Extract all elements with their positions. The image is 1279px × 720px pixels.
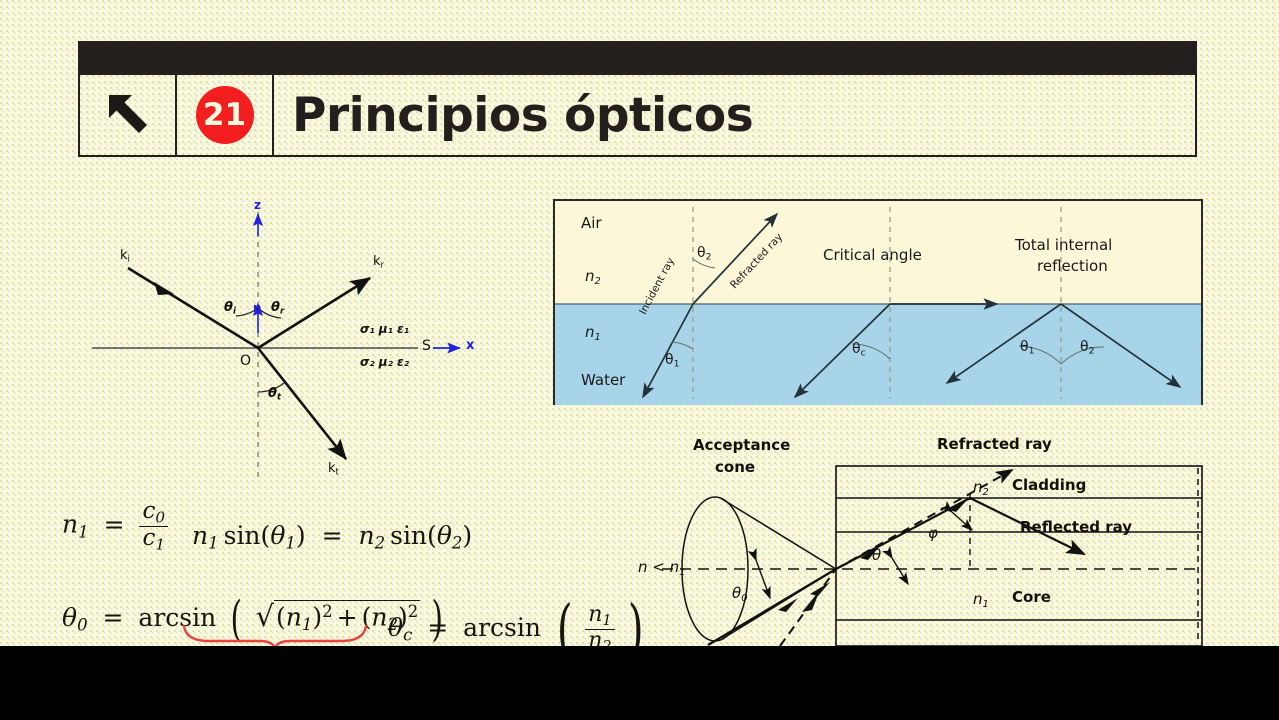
water-label: Water bbox=[581, 371, 625, 389]
aa-theta-sub: 0 bbox=[77, 616, 88, 635]
cladding-n-letter: n bbox=[973, 478, 983, 496]
cladding-label: Cladding bbox=[1012, 476, 1086, 494]
theta-t-label: θt bbox=[268, 386, 281, 402]
theta2-sub: 2 bbox=[706, 252, 712, 263]
aa-equals: = bbox=[103, 603, 124, 632]
k-incident-sub: i bbox=[128, 254, 130, 264]
core-index-label: n1 bbox=[973, 590, 989, 610]
n1-letter: n bbox=[585, 323, 595, 341]
ca-denominator: n2 bbox=[585, 630, 614, 646]
theta2-tir-symbol: θ bbox=[1080, 339, 1089, 355]
refracted-ray-label: Refracted ray bbox=[937, 435, 1052, 453]
k-incident-letter: k bbox=[120, 248, 128, 263]
theta2-tir-sub: 2 bbox=[1089, 346, 1095, 357]
theta2-tir-label: θ2 bbox=[1080, 339, 1094, 357]
snell-theta-right-sub: 2 bbox=[452, 534, 463, 553]
reflected-ray-label: Reflected ray bbox=[1020, 518, 1132, 536]
back-arrow-button[interactable] bbox=[80, 75, 177, 155]
arrow-up-left-icon bbox=[102, 89, 154, 141]
snell-sin-left: sin bbox=[224, 521, 261, 550]
ca-open-paren: ( bbox=[557, 592, 573, 646]
theta-t-symbol: θ bbox=[268, 386, 277, 401]
snell-law-equation: n1sin(θ1) = n2sin(θ2) bbox=[192, 521, 472, 553]
ca-arcsin: arcsin bbox=[463, 613, 541, 642]
theta-label: θ bbox=[872, 546, 881, 564]
cladding-index-label: n2 bbox=[973, 478, 989, 498]
ca-den-var: n bbox=[588, 628, 602, 646]
theta1-sub: 1 bbox=[674, 359, 680, 370]
theta-r-label: θr bbox=[271, 300, 284, 316]
core-n-letter: n bbox=[973, 590, 983, 608]
theta1-tir-symbol: θ bbox=[1020, 339, 1029, 355]
k-reflected-label: kr bbox=[373, 254, 384, 270]
n-lt-n1-text: n < n bbox=[638, 558, 679, 576]
slide-number-text: 21 bbox=[203, 97, 246, 133]
n1-label: n1 bbox=[585, 323, 601, 343]
optical-fiber-acceptance-cone-diagram: Acceptance cone Refracted ray Reflected … bbox=[660, 432, 1205, 646]
slide-canvas: 21 Principios ópticos bbox=[0, 0, 1279, 646]
k-transmitted-sub: t bbox=[336, 467, 339, 477]
aa-theta: θ bbox=[62, 603, 77, 632]
theta-c-symbol: θ bbox=[852, 341, 861, 357]
critical-angle-label: Critical angle bbox=[823, 246, 922, 264]
ca-equals: = bbox=[427, 613, 448, 642]
header-dark-bar bbox=[78, 41, 1197, 73]
ri-num-var: c bbox=[142, 498, 155, 524]
ri-lhs-var: n bbox=[62, 510, 78, 539]
snell-theta-right: θ bbox=[437, 521, 452, 550]
k-transmitted-label: kt bbox=[328, 461, 339, 477]
reflection-refraction-diagram: z x S O n ki kr kt θi θr θt σ₁ μ₁ ε₁ σ₂ … bbox=[88, 196, 498, 496]
slide-number-badge: 21 bbox=[177, 75, 274, 155]
ri-den-sub: 1 bbox=[155, 535, 165, 553]
ca-num-sub: 1 bbox=[602, 613, 611, 629]
ri-den-var: c bbox=[142, 525, 155, 551]
aa-pow1: 2 bbox=[322, 602, 333, 621]
critical-angle-equation: θc = arcsin ( n1 n2 ) bbox=[388, 592, 648, 646]
ca-fraction: n1 n2 bbox=[585, 604, 614, 646]
snell-equals: = bbox=[322, 521, 343, 550]
theta0-sub: 0 bbox=[741, 593, 747, 604]
refractive-index-equation: n1 = c0 c1 bbox=[62, 500, 168, 552]
normal-vector-label: n bbox=[253, 301, 262, 315]
page-title-text: Principios ópticos bbox=[292, 88, 753, 143]
acceptance-cone-label-line1: Acceptance bbox=[693, 436, 790, 454]
cladding-n-sub: 2 bbox=[983, 487, 989, 498]
theta2-refraction-label: θ2 bbox=[697, 245, 711, 263]
theta1-tir-sub: 1 bbox=[1029, 346, 1035, 357]
slide-number-circle: 21 bbox=[196, 86, 254, 144]
bottom-black-bar bbox=[0, 646, 1279, 720]
phi-label: φ bbox=[928, 524, 938, 542]
acceptance-cone-label-line2: cone bbox=[715, 458, 755, 476]
theta-t-sub: t bbox=[277, 392, 281, 402]
medium1-params-label: σ₁ μ₁ ε₁ bbox=[360, 322, 409, 336]
ca-den-sub: 2 bbox=[602, 639, 611, 646]
n-less-than-n1-label: n < n1 bbox=[638, 558, 685, 578]
snell-theta-left-sub: 1 bbox=[285, 534, 296, 553]
theta-r-symbol: θ bbox=[271, 300, 280, 315]
ri-num-sub: 0 bbox=[155, 508, 165, 526]
theta-i-label: θi bbox=[224, 300, 236, 316]
theta1-tir-label: θ1 bbox=[1020, 339, 1034, 357]
ca-close-paren: ) bbox=[627, 592, 643, 646]
snell-sin-right: sin bbox=[390, 521, 427, 550]
theta2-symbol: θ bbox=[697, 245, 706, 261]
theta-r-sub: r bbox=[280, 306, 284, 316]
snell-n1-var: n bbox=[192, 521, 208, 550]
page-title: Principios ópticos bbox=[274, 75, 1195, 155]
ri-numerator: c0 bbox=[139, 500, 168, 527]
fresnel-rays-svg bbox=[88, 196, 498, 496]
core-label: Core bbox=[1012, 588, 1051, 606]
total-internal-reflection-label-line2: reflection bbox=[1037, 257, 1108, 275]
n1-sub: 1 bbox=[595, 332, 601, 343]
ri-denominator: c1 bbox=[139, 527, 168, 553]
x-axis-label: x bbox=[466, 338, 474, 353]
snell-n1-sub: 1 bbox=[208, 534, 219, 553]
ca-theta-sub: c bbox=[403, 626, 412, 645]
snell-theta-left: θ bbox=[270, 521, 285, 550]
n2-sub: 2 bbox=[595, 276, 601, 287]
theta0-symbol: θ bbox=[732, 584, 741, 602]
snell-n2-var: n bbox=[359, 521, 375, 550]
snell-n2-sub: 2 bbox=[375, 534, 386, 553]
k-reflected-sub: r bbox=[381, 260, 385, 270]
n-lt-n1-sub: 1 bbox=[679, 567, 685, 578]
air-label: Air bbox=[581, 214, 602, 232]
aa-n2: n bbox=[371, 603, 387, 632]
n2-letter: n bbox=[585, 267, 595, 285]
theta-c-label: θc bbox=[852, 341, 866, 359]
k-incident-label: ki bbox=[120, 248, 130, 264]
origin-label: O bbox=[240, 353, 251, 369]
total-internal-reflection-label-line1: Total internal bbox=[1015, 236, 1112, 254]
z-axis-label: z bbox=[254, 198, 261, 212]
ca-numerator: n1 bbox=[585, 604, 614, 630]
slide-header: 21 Principios ópticos bbox=[78, 73, 1197, 157]
red-underbrace-annotation bbox=[180, 624, 370, 646]
ri-equals: = bbox=[104, 510, 125, 539]
theta0-label: θ0 bbox=[732, 584, 747, 604]
total-internal-reflection-diagram: Air Water n2 n1 Incident ray Refracted r… bbox=[553, 199, 1203, 405]
n2-label: n2 bbox=[585, 267, 601, 287]
theta-i-sub: i bbox=[233, 306, 236, 316]
ri-fraction: c0 c1 bbox=[139, 500, 168, 552]
ri-lhs-sub: 1 bbox=[78, 522, 89, 541]
ca-theta: θ bbox=[388, 613, 403, 642]
k-transmitted-letter: k bbox=[328, 461, 336, 476]
s-label: S bbox=[422, 338, 431, 354]
k-reflected-letter: k bbox=[373, 254, 381, 269]
theta-i-symbol: θ bbox=[224, 300, 233, 315]
theta1-refraction-label: θ1 bbox=[665, 352, 679, 370]
theta-c-sub: c bbox=[861, 348, 866, 359]
medium2-params-label: σ₂ μ₂ ε₂ bbox=[360, 355, 409, 369]
core-n-sub: 1 bbox=[983, 599, 989, 610]
theta1-symbol: θ bbox=[665, 352, 674, 368]
ca-num-var: n bbox=[588, 602, 602, 627]
